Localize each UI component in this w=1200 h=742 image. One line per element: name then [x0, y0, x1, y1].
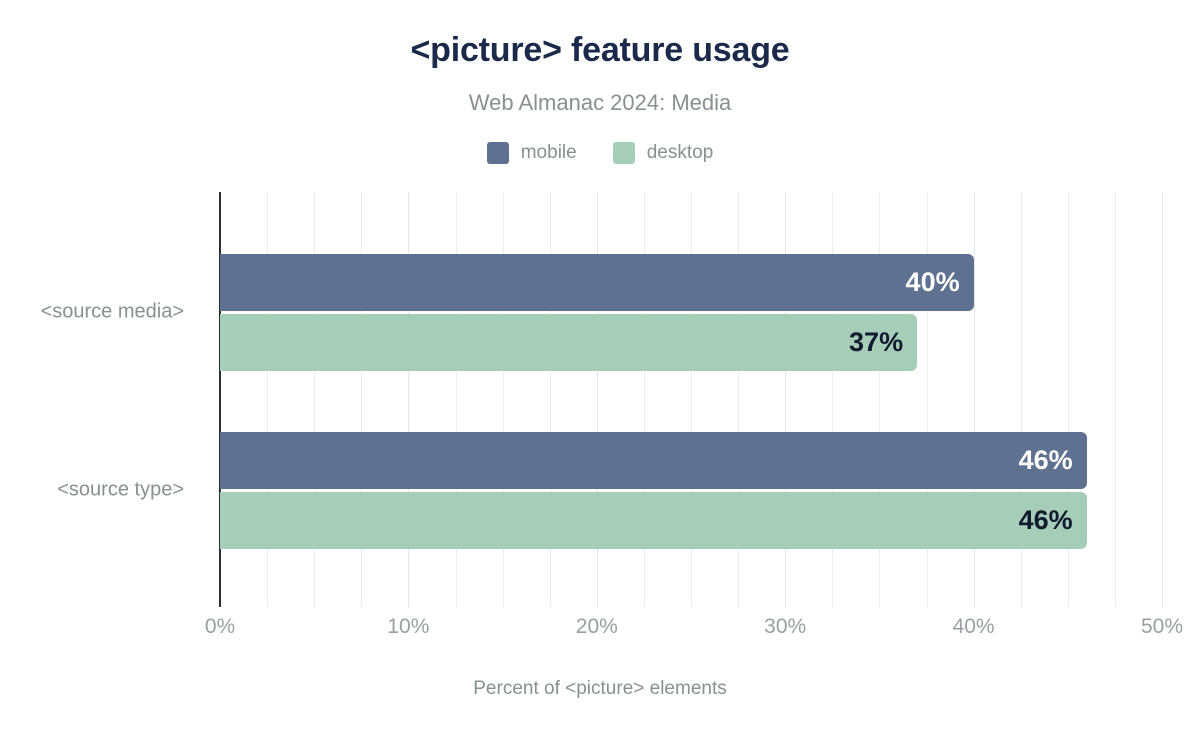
x-tick-label: 30%	[764, 615, 806, 639]
bar-mobile-2[interactable]: 46%	[220, 432, 1087, 489]
bar-mobile-1[interactable]: 40%	[220, 254, 974, 311]
x-tick-label: 50%	[1141, 615, 1183, 639]
legend-item-mobile[interactable]: mobile	[487, 142, 577, 164]
legend-label-mobile: mobile	[521, 142, 577, 164]
bar-desktop-2[interactable]: 46%	[220, 492, 1087, 549]
bar-value-label: 46%	[1019, 447, 1073, 474]
x-tick-label: 0%	[205, 615, 235, 639]
chart-container: <picture> feature usage Web Almanac 2024…	[0, 0, 1200, 742]
bar-value-label: 40%	[906, 269, 960, 296]
x-tick-label: 20%	[576, 615, 618, 639]
x-tick-label: 40%	[953, 615, 995, 639]
bar-value-label: 37%	[849, 329, 903, 356]
x-axis-title: Percent of <picture> elements	[0, 678, 1200, 700]
gridline	[1115, 192, 1116, 607]
gridline	[1162, 192, 1163, 607]
bar-value-label: 46%	[1019, 507, 1073, 534]
legend-label-desktop: desktop	[647, 142, 714, 164]
chart-subtitle: Web Almanac 2024: Media	[0, 90, 1200, 116]
category-label-1: <source media>	[0, 301, 184, 324]
x-tick-label: 10%	[387, 615, 429, 639]
legend-swatch-mobile	[487, 142, 509, 164]
bar-desktop-1[interactable]: 37%	[220, 314, 917, 371]
chart-legend: mobile desktop	[0, 142, 1200, 164]
legend-swatch-desktop	[613, 142, 635, 164]
plot-area: 40%37%46%46%	[220, 192, 1162, 607]
legend-item-desktop[interactable]: desktop	[613, 142, 714, 164]
category-label-2: <source type>	[0, 479, 184, 502]
chart-title: <picture> feature usage	[0, 30, 1200, 71]
